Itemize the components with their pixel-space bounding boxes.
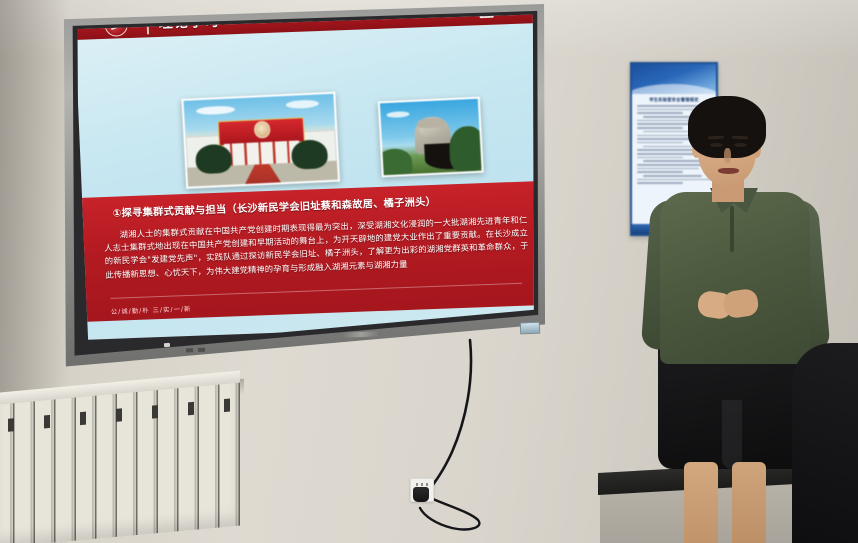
slide-content-body: 湖湘人士的集群式贡献在中国共产党创建时期表现得最为突出，深受湖湘文化浸润的一大批…	[103, 214, 529, 282]
content-divider	[110, 283, 522, 299]
presenter-mouth	[718, 168, 739, 174]
photo-1-image	[184, 94, 338, 187]
photo-changsha-xinmin-society-site	[181, 92, 340, 189]
slide-content-block: ①探寻集群式贡献与担当（长沙新民学会旧址蔡和森故居、橘子洲头） 湖湘人士的集群式…	[82, 181, 545, 322]
cloud-shape	[286, 100, 319, 109]
shirt-placket	[730, 206, 734, 252]
power-plug	[413, 487, 429, 502]
slide-content-footer: 公/诚/勤/朴 三/实/一/新	[111, 304, 192, 316]
foreground-dark-object	[792, 343, 858, 543]
presenter-eye-left	[710, 143, 723, 147]
tree-right	[291, 139, 329, 170]
display-screen[interactable]: 理论学习 时间04:29:01	[60, 4, 546, 368]
presenter-leg-right	[732, 462, 766, 543]
poster-header-band	[632, 64, 716, 94]
presenter-nose	[724, 148, 731, 163]
stone-head-sculpture	[414, 116, 451, 155]
cast-iron-radiator	[0, 376, 240, 543]
cloud-shape	[386, 111, 410, 119]
slide-surface: 理论学习 时间04:29:01	[74, 4, 546, 340]
power-led-indicator	[164, 343, 170, 347]
tree-left	[195, 143, 233, 174]
colonnade	[223, 140, 299, 166]
foliage-right	[448, 126, 484, 172]
interactive-flat-panel[interactable]: 理论学习 时间04:29:01	[60, 4, 546, 368]
photo-2-image	[380, 99, 482, 176]
cloud-shape	[196, 105, 235, 115]
sculpture-hair	[417, 118, 445, 129]
classroom-scene: 学生实验室安全管理规定 理论学习 时间04:29:01	[0, 0, 858, 543]
photo-orange-isle-mao-sculpture	[378, 97, 484, 178]
presenter-eye-right	[734, 143, 747, 147]
side-io-port	[520, 322, 540, 335]
portrait-medallion	[254, 121, 270, 138]
foliage-left	[378, 148, 413, 176]
outlet-slots	[416, 483, 428, 486]
presenter-shirt	[660, 192, 810, 364]
presenter-leg-left	[684, 462, 718, 543]
